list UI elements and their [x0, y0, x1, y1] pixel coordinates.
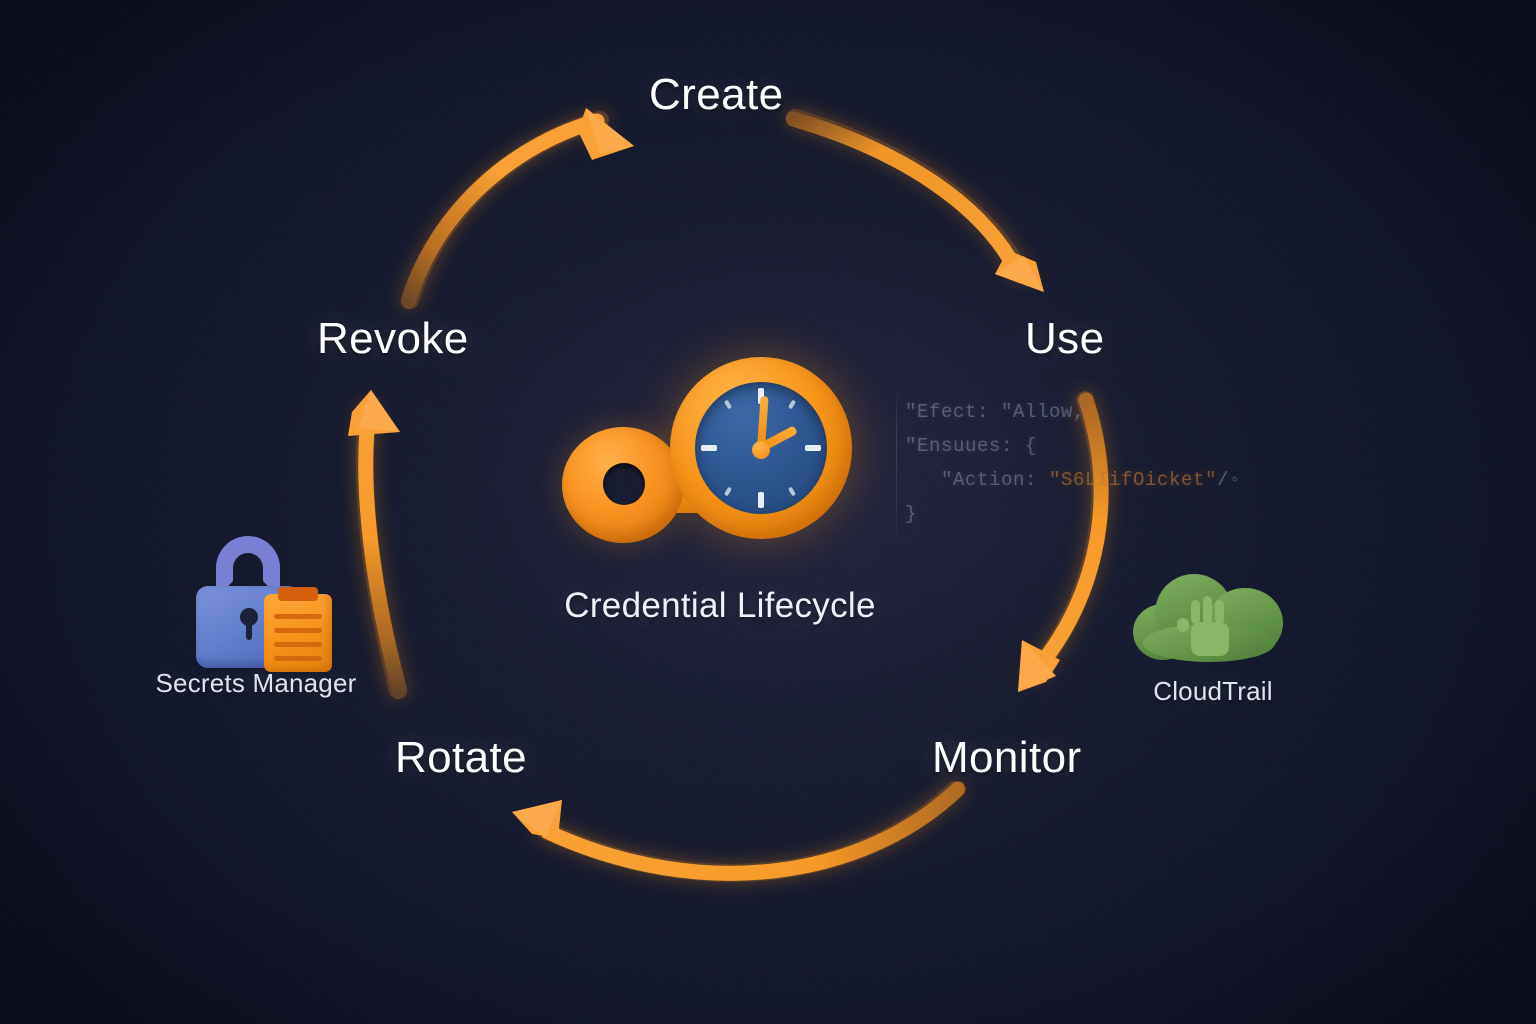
service-badge-cloudtrail[interactable]: CloudTrail: [1095, 562, 1331, 707]
cycle-node-create[interactable]: Create: [649, 70, 783, 120]
credential-lifecycle-diagram: Create Use Monitor Rotate Revoke "Efect:…: [0, 0, 1536, 1024]
policy-code-overlay: "Efect: "Allow,"Ensuues: { "Action: "S6L…: [905, 395, 1285, 531]
arrow-revoke-to-create: [408, 108, 634, 302]
code-line-3: "Action: "S6LIifOicket"/◦: [905, 463, 1285, 497]
clock-center-cap: [752, 441, 770, 459]
paw-print-shape: [1181, 596, 1237, 656]
code-line-1: "Efect: "Allow,: [905, 395, 1285, 429]
cycle-node-rotate[interactable]: Rotate: [395, 733, 527, 783]
key-clock-icon: [552, 355, 862, 545]
green-cloud-paw-icon: [1095, 562, 1331, 670]
code-line-3-suffix: /◦: [1217, 469, 1241, 491]
service-badge-secrets-manager[interactable]: Secrets Manager: [148, 532, 364, 699]
code-line-3-prefix: "Action:: [905, 469, 1049, 491]
clock-bezel-shape: [670, 357, 852, 539]
arrow-monitor-to-rotate: [512, 789, 958, 873]
cycle-node-use[interactable]: Use: [1025, 314, 1104, 364]
key-hole-shape: [603, 463, 645, 505]
clipboard-shape: [264, 594, 332, 672]
padlock-keyhole-shape: [240, 608, 258, 626]
key-bow-shape: [562, 427, 684, 543]
service-caption-cloudtrail: CloudTrail: [1095, 676, 1331, 707]
clipboard-clip-shape: [278, 587, 318, 601]
lock-clipboard-icon: [148, 532, 364, 662]
code-divider-rule: [896, 388, 897, 538]
cloud-shape: [1133, 574, 1283, 658]
cycle-node-revoke[interactable]: Revoke: [317, 314, 469, 364]
clock-face-shape: [695, 382, 827, 514]
cycle-node-monitor[interactable]: Monitor: [932, 733, 1082, 783]
code-line-3-accent: "S6LIifOicket": [1049, 469, 1217, 491]
arrow-create-to-use: [793, 119, 1044, 292]
code-line-2: "Ensuues: {: [905, 429, 1285, 463]
service-caption-secrets-manager: Secrets Manager: [148, 668, 364, 699]
code-line-4: }: [905, 497, 1285, 531]
